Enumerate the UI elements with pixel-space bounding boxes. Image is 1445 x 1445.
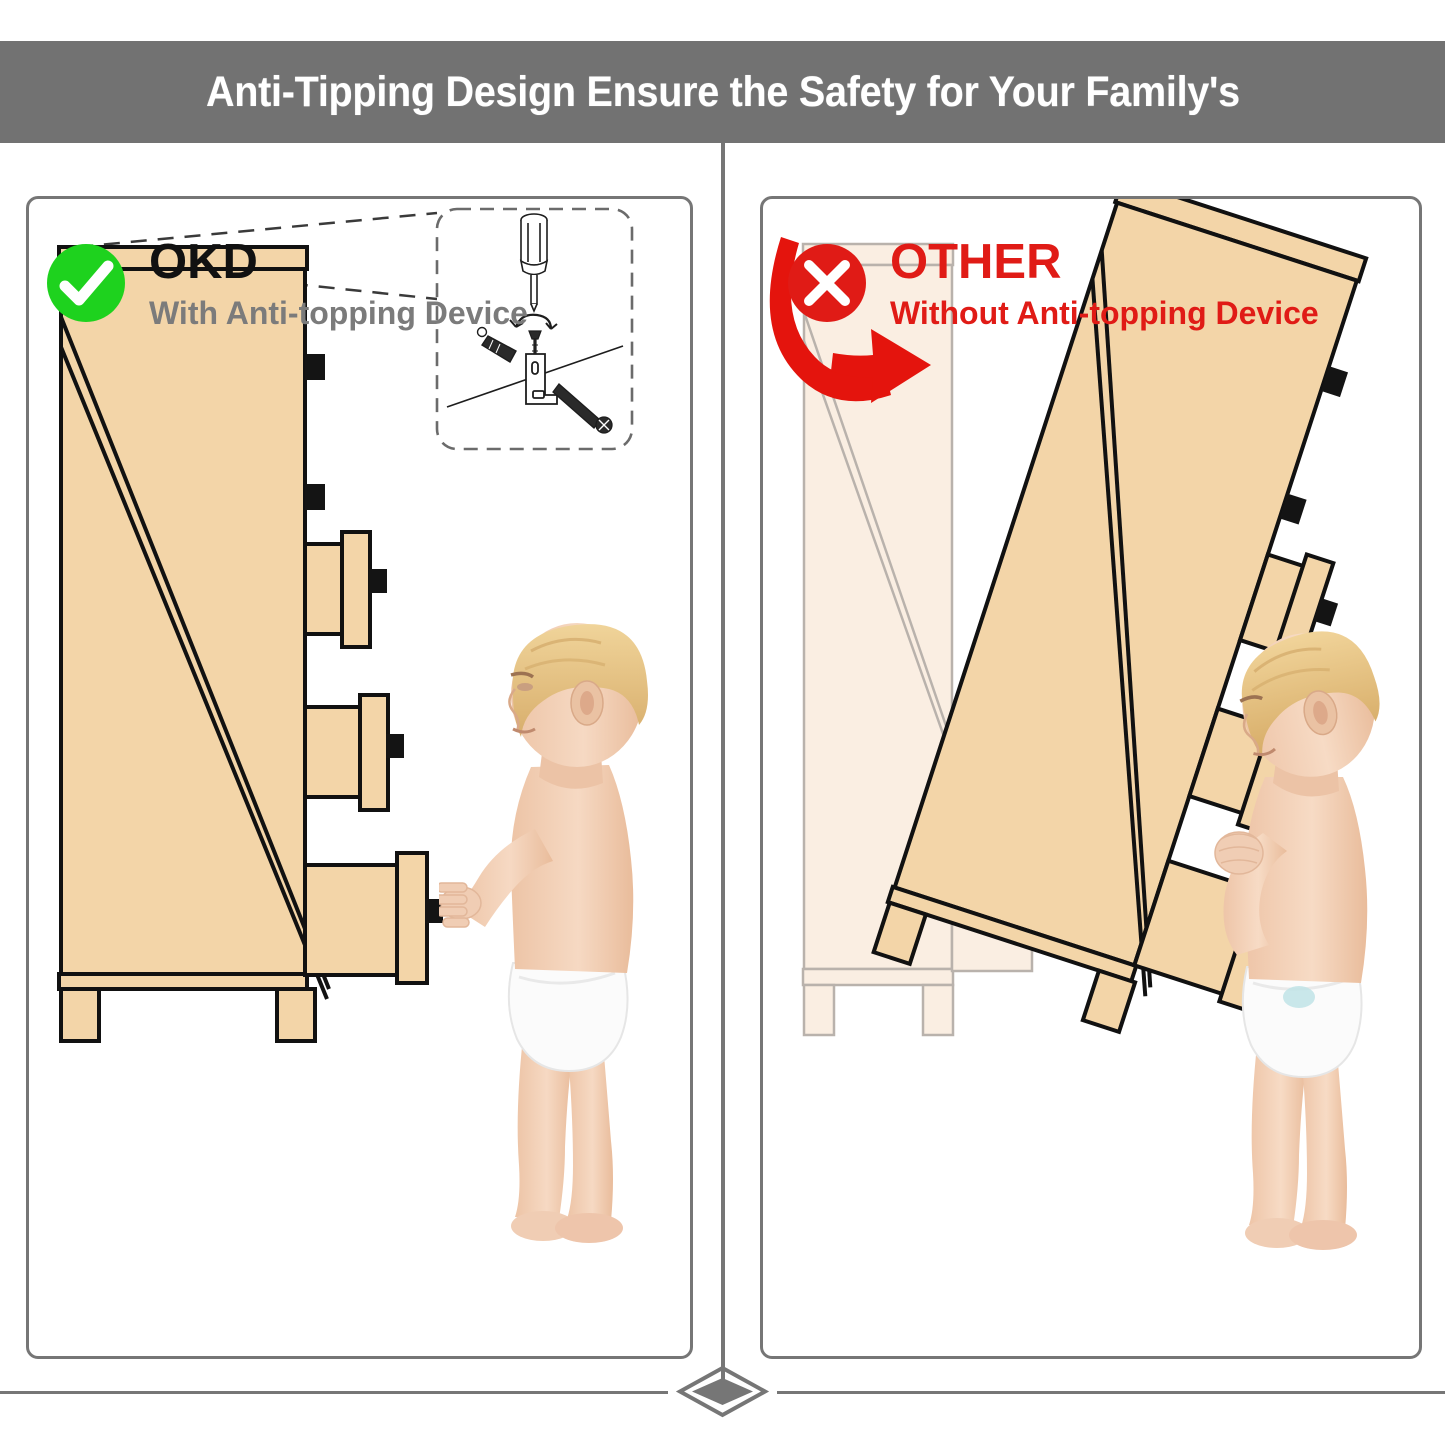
open-drawers xyxy=(305,532,443,983)
panel-title-okd: OKD xyxy=(149,238,528,287)
vertical-divider xyxy=(721,143,725,1380)
panel-okd xyxy=(26,196,693,1359)
panel-other xyxy=(760,196,1422,1359)
dresser-anchored xyxy=(59,247,329,1041)
toddler-left xyxy=(439,617,689,1257)
panel-heading-other: OTHER Without Anti-topping Device xyxy=(786,238,1319,331)
anti-tip-anchor-knobs xyxy=(305,354,325,510)
page-title: Anti-Tipping Design Ensure the Safety fo… xyxy=(206,68,1240,117)
green-check-circle-icon xyxy=(45,242,127,324)
bottom-rule-right xyxy=(777,1391,1445,1394)
panel-title-other: OTHER xyxy=(890,238,1319,287)
panel-heading-okd: OKD With Anti-topping Device xyxy=(45,238,528,331)
drawer-knob xyxy=(369,569,387,593)
toddler-right xyxy=(1181,627,1421,1259)
diamond-divider-icon xyxy=(665,1348,780,1438)
panel-subtitle-other: Without Anti-topping Device xyxy=(890,297,1319,331)
panel-subtitle-okd: With Anti-topping Device xyxy=(149,297,528,331)
red-cross-circle-icon xyxy=(786,242,868,324)
header-bar: Anti-Tipping Design Ensure the Safety fo… xyxy=(0,41,1445,143)
bottom-rule-left xyxy=(0,1391,668,1394)
infographic-root: Anti-Tipping Design Ensure the Safety fo… xyxy=(0,0,1445,1445)
drawer-knob xyxy=(386,734,404,758)
